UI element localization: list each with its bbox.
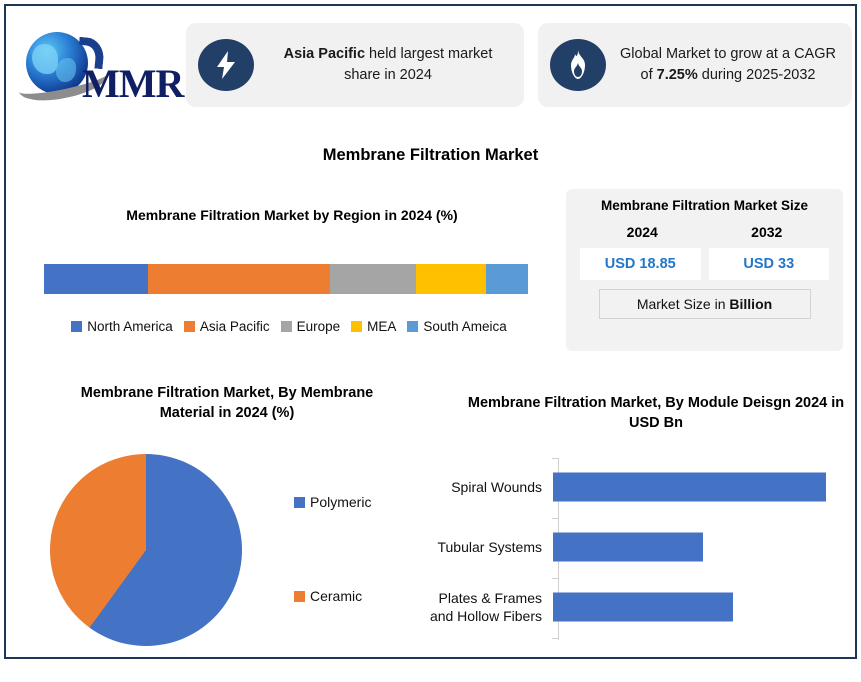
legend-label: North America — [87, 319, 173, 334]
market-size-value-2032: USD 33 — [709, 248, 830, 280]
header-card-cagr: Global Market to grow at a CAGR of 7.25%… — [538, 23, 852, 107]
market-size-heading: Membrane Filtration Market Size — [580, 197, 829, 215]
axis-tick — [552, 578, 558, 579]
header-card-region-lead: Asia Pacific — [284, 46, 365, 62]
infographic-frame: MMR Asia Pacific held largest market sha… — [4, 4, 857, 659]
legend-item: Europe — [281, 319, 341, 334]
region-segment-asia-pacific — [148, 264, 330, 294]
legend-item: North America — [71, 319, 173, 334]
region-segment-europe — [330, 264, 416, 294]
lightning-bolt-icon — [198, 39, 254, 91]
module-bar-row: Plates & Frames and Hollow Fibers — [416, 584, 836, 630]
region-segment-south-america — [486, 264, 528, 294]
module-bar-tubular-systems — [553, 533, 703, 562]
axis-tick — [552, 638, 558, 639]
region-chart-title: Membrane Filtration Market by Region in … — [42, 207, 542, 223]
module-bar-label: Plates & Frames and Hollow Fibers — [416, 589, 552, 625]
legend-item: Asia Pacific — [184, 319, 270, 334]
axis-tick — [552, 458, 558, 459]
legend-label: Europe — [297, 319, 341, 334]
module-bar-chart: Spiral Wounds Tubular Systems Plates & F… — [416, 456, 836, 646]
flame-icon — [550, 39, 606, 91]
module-bar-track — [552, 524, 836, 570]
legend-item: MEA — [351, 319, 396, 334]
material-chart-title: Membrane Filtration Market, By Membrane … — [62, 384, 392, 423]
module-bar-track — [552, 584, 836, 630]
page-title: Membrane Filtration Market — [6, 146, 855, 165]
legend-item: Ceramic — [294, 588, 434, 604]
module-bar-track — [552, 464, 836, 510]
module-bar-row: Tubular Systems — [416, 524, 836, 570]
market-size-values: USD 18.85 USD 33 — [580, 248, 829, 280]
market-size-value-2024: USD 18.85 — [580, 248, 701, 280]
region-chart-legend: North America Asia Pacific Europe MEA So… — [44, 319, 534, 334]
module-bar-plates-frames-hollow-fibers — [553, 593, 733, 622]
region-segment-mea — [416, 264, 486, 294]
module-bar-label: Spiral Wounds — [416, 478, 552, 496]
market-size-unit-note: Market Size in Billion — [599, 289, 811, 319]
legend-label: Asia Pacific — [200, 319, 270, 334]
legend-swatch-icon — [351, 321, 362, 332]
region-segment-north-america — [44, 264, 148, 294]
header-card-cagr-text: Global Market to grow at a CAGR of 7.25%… — [616, 44, 840, 85]
mmr-logo: MMR — [16, 22, 176, 108]
legend-label: MEA — [367, 319, 396, 334]
region-stacked-bar — [44, 264, 528, 294]
logo-text: MMR — [82, 60, 183, 107]
market-size-years: 2024 2032 — [580, 224, 829, 240]
header-card-region: Asia Pacific held largest market share i… — [186, 23, 524, 107]
legend-label: Ceramic — [310, 588, 362, 604]
legend-label: South Ameica — [423, 319, 506, 334]
module-bar-row: Spiral Wounds — [416, 464, 836, 510]
axis-tick — [552, 518, 558, 519]
market-size-year-2032: 2032 — [705, 224, 830, 240]
market-size-unit-pre: Market Size in — [637, 296, 730, 312]
legend-swatch-icon — [407, 321, 418, 332]
market-size-year-2024: 2024 — [580, 224, 705, 240]
module-bar-spiral-wounds — [553, 473, 826, 502]
legend-swatch-icon — [281, 321, 292, 332]
legend-swatch-icon — [184, 321, 195, 332]
legend-label: Polymeric — [310, 494, 371, 510]
module-chart-title: Membrane Filtration Market, By Module De… — [461, 394, 851, 433]
module-bar-label: Tubular Systems — [416, 538, 552, 556]
legend-swatch-icon — [294, 591, 305, 602]
header-card-cagr-value: 7.25% — [657, 67, 698, 83]
header-card-cagr-post: during 2025-2032 — [698, 67, 816, 83]
material-pie-chart — [50, 454, 242, 646]
material-chart-legend: Polymeric Ceramic — [294, 494, 434, 682]
legend-item: Polymeric — [294, 494, 434, 510]
market-size-panel: Membrane Filtration Market Size 2024 203… — [566, 189, 843, 351]
header-card-region-rest: held largest market share in 2024 — [344, 46, 492, 83]
header-card-region-text: Asia Pacific held largest market share i… — [264, 44, 512, 85]
legend-item: South Ameica — [407, 319, 506, 334]
legend-swatch-icon — [294, 497, 305, 508]
legend-swatch-icon — [71, 321, 82, 332]
market-size-unit-bold: Billion — [729, 296, 772, 312]
header-bar: MMR Asia Pacific held largest market sha… — [6, 6, 855, 123]
